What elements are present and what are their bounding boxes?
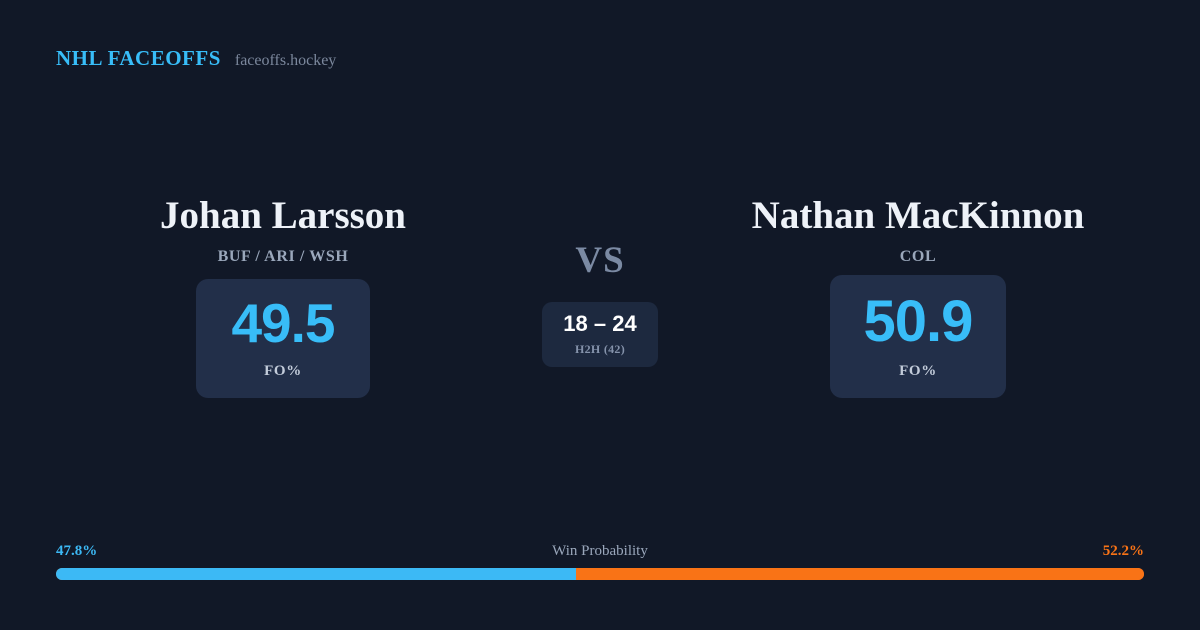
- win-probability-left-value: 47.8%: [56, 540, 97, 562]
- player-right: Nathan MacKinnon COL 50.9 FO%: [678, 196, 1158, 398]
- win-probability-right-value: 52.2%: [1103, 540, 1144, 562]
- win-probability-section: 47.8% Win Probability 52.2%: [56, 540, 1144, 580]
- header: NHL FACEOFFS faceoffs.hockey: [56, 46, 336, 71]
- player-right-name: Nathan MacKinnon: [752, 196, 1085, 237]
- player-left-stat-value: 49.5: [231, 296, 334, 351]
- vs-label: VS: [575, 242, 624, 279]
- share-card: NHL FACEOFFS faceoffs.hockey Johan Larss…: [0, 0, 1200, 630]
- win-probability-bar-right-segment: [576, 568, 1144, 580]
- player-right-stat-value: 50.9: [864, 293, 973, 351]
- player-right-stat-label: FO%: [899, 363, 937, 380]
- brand-title: NHL FACEOFFS: [56, 46, 221, 71]
- player-left-stat-card: 49.5 FO%: [196, 279, 370, 398]
- player-right-stat-card: 50.9 FO%: [830, 275, 1006, 398]
- win-probability-bar-left-segment: [56, 568, 576, 580]
- head-to-head-box: 18 – 24 H2H (42): [542, 302, 658, 367]
- player-left-teams: BUF / ARI / WSH: [218, 248, 349, 266]
- win-probability-bar: [56, 568, 1144, 580]
- player-left-name: Johan Larsson: [160, 196, 406, 237]
- head-to-head-record: 18 – 24: [563, 313, 636, 335]
- win-probability-title: Win Probability: [552, 540, 648, 562]
- matchup-section: Johan Larsson BUF / ARI / WSH 49.5 FO% V…: [0, 196, 1200, 436]
- brand-domain: faceoffs.hockey: [235, 52, 336, 70]
- player-left-stat-label: FO%: [264, 363, 302, 380]
- win-probability-labels: 47.8% Win Probability 52.2%: [56, 540, 1144, 562]
- player-left: Johan Larsson BUF / ARI / WSH 49.5 FO%: [43, 196, 523, 398]
- head-to-head-label: H2H (42): [575, 342, 625, 357]
- player-right-teams: COL: [900, 248, 936, 266]
